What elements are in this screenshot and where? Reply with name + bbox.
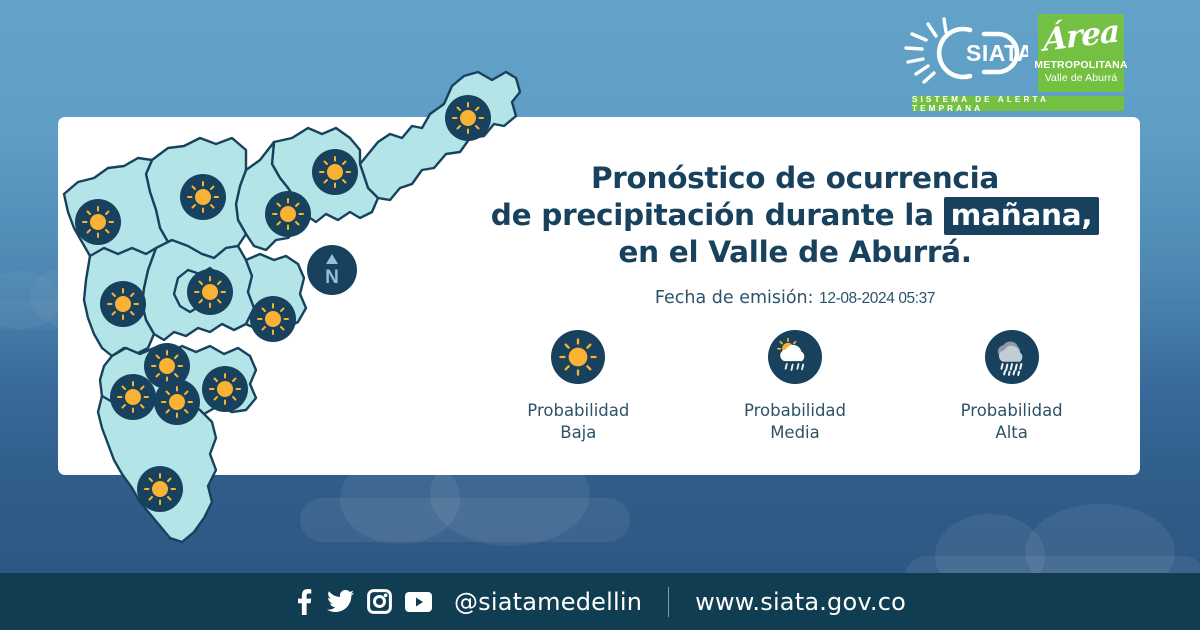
sun-icon	[100, 312, 146, 331]
sun-icon	[137, 497, 183, 516]
map-marker-girardota[interactable]	[312, 149, 358, 195]
legend-item-baja: ProbabilidadBaja	[483, 330, 673, 444]
facebook-icon[interactable]	[294, 589, 314, 615]
map-marker-bello[interactable]	[180, 174, 226, 220]
title-highlight: mañana,	[944, 197, 1100, 235]
page-title: Pronóstico de ocurrencia de precipitació…	[470, 160, 1120, 271]
sun-icon	[551, 330, 605, 388]
title-line-2: de precipitación durante la mañana,	[470, 197, 1120, 234]
svg-text:SIATA: SIATA	[966, 40, 1028, 66]
sun-icon	[265, 222, 311, 241]
footer-divider	[668, 587, 669, 617]
map-marker-barbosa[interactable]	[445, 95, 491, 141]
sun-icon	[250, 327, 296, 346]
sistema-alerta-temprana-banner: SISTEMA DE ALERTA TEMPRANA	[912, 96, 1124, 111]
sun-cloud-rain-icon	[768, 330, 822, 388]
youtube-icon[interactable]	[405, 592, 432, 612]
siata-logo-icon: SIATA	[898, 16, 1028, 90]
sun-icon	[110, 405, 156, 424]
area-line2: Valle de Aburrá	[1045, 72, 1118, 84]
legend-label-line2: Media	[744, 422, 846, 444]
map-marker-la-estrella[interactable]	[110, 374, 156, 420]
map-marker-medellin[interactable]	[187, 269, 233, 315]
title-line-3: en el Valle de Aburrá.	[470, 234, 1120, 271]
map-marker-caldas[interactable]	[137, 466, 183, 512]
sun-icon	[75, 230, 121, 249]
svg-text:N: N	[325, 267, 339, 288]
map-marker-copacabana[interactable]	[265, 191, 311, 237]
issue-date-value: 12-08-2024 05:37	[819, 290, 935, 307]
sun-icon	[202, 397, 248, 416]
map-marker-itagui[interactable]	[100, 281, 146, 327]
legend-label-line1: Probabilidad	[744, 400, 846, 422]
compass-north-icon: N	[307, 245, 357, 295]
siata-logo: SIATA	[898, 16, 1028, 90]
legend-item-alta: ProbabilidadAlta	[917, 330, 1107, 444]
area-script-text: Área	[1043, 16, 1119, 56]
website-url[interactable]: www.siata.gov.co	[695, 588, 906, 616]
map-marker-caldas-norte[interactable]	[154, 379, 200, 425]
title-line-2-text: de precipitación durante la	[491, 198, 944, 232]
title-line-1: Pronóstico de ocurrencia	[470, 160, 1120, 197]
social-icons	[294, 589, 432, 615]
legend-label-line1: Probabilidad	[527, 400, 629, 422]
map-marker-envigado[interactable]	[250, 296, 296, 342]
sun-icon	[445, 126, 491, 145]
map-marker-san-pedro[interactable]	[75, 199, 121, 245]
sun-icon	[187, 300, 233, 319]
logo-group: SIATA Área METROPOLITANA Valle de Aburrá…	[898, 14, 1126, 110]
twitter-icon[interactable]	[327, 590, 354, 613]
area-metropolitana-logo: Área METROPOLITANA Valle de Aburrá	[1038, 14, 1124, 92]
legend-item-media: ProbabilidadMedia	[700, 330, 890, 444]
cloud-heavy-rain-icon	[985, 330, 1039, 388]
issue-date-label: Fecha de emisión:	[655, 288, 814, 308]
sun-icon	[312, 180, 358, 199]
issue-date-row: Fecha de emisión: 12-08-2024 05:37	[470, 288, 1120, 308]
legend-label: ProbabilidadBaja	[527, 400, 629, 444]
legend-label-line1: Probabilidad	[961, 400, 1063, 422]
sun-icon	[154, 410, 200, 429]
legend-label: ProbabilidadMedia	[744, 400, 846, 444]
legend-label-line2: Alta	[961, 422, 1063, 444]
footer-bar: @siatamedellin www.siata.gov.co	[0, 573, 1200, 630]
map-marker-angelopolis[interactable]	[202, 366, 248, 412]
legend-label: ProbabilidadAlta	[961, 400, 1063, 444]
social-handle[interactable]: @siatamedellin	[454, 588, 642, 616]
sun-icon	[180, 205, 226, 224]
instagram-icon[interactable]	[367, 589, 392, 614]
legend-label-line2: Baja	[527, 422, 629, 444]
probability-legend: ProbabilidadBaja ProbabilidadMedia	[470, 330, 1120, 444]
valle-de-aburra-map: N	[60, 42, 540, 572]
infographic-root: N SIATA Área METROPOLITANA	[0, 0, 1200, 630]
area-line1: METROPOLITANA	[1034, 59, 1127, 71]
headline-block: Pronóstico de ocurrencia de precipitació…	[470, 160, 1120, 308]
